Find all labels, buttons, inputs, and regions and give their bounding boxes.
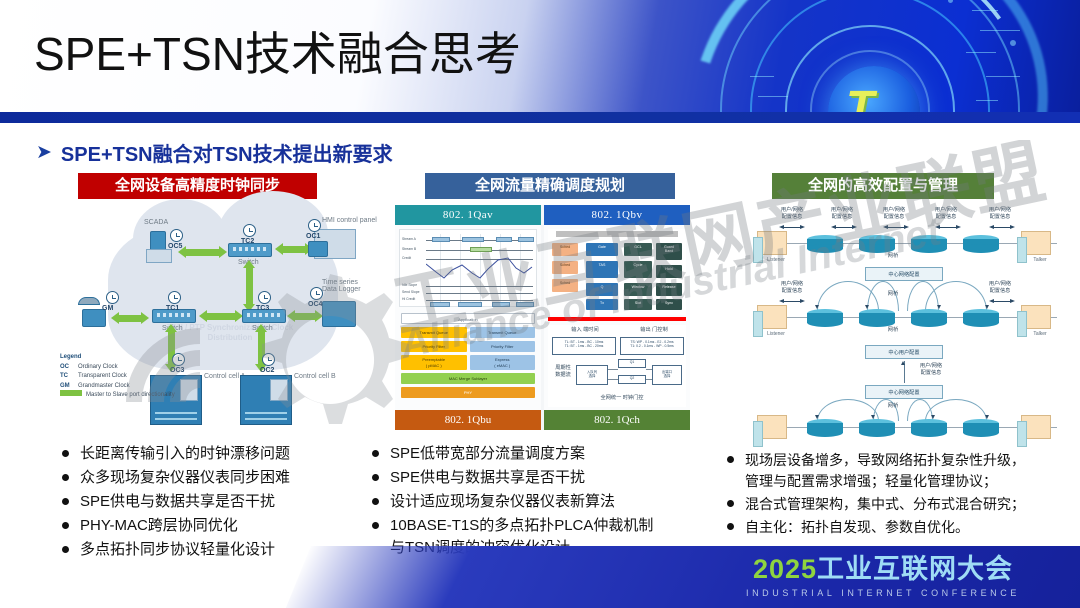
header-tech-graphic: T	[680, 0, 1080, 112]
bridge-node	[911, 419, 947, 436]
flow-block: Preemptable( pMAC )	[401, 355, 467, 370]
bullet-dot-icon	[372, 474, 379, 481]
node-clock-label: TC2	[241, 238, 254, 245]
bullet-dot-icon	[372, 450, 379, 457]
arch-block: Gate	[586, 243, 618, 256]
clock-icon	[308, 219, 321, 232]
sync-arrow	[206, 313, 236, 320]
list-item: SPE供电与数据共享是否干扰	[372, 467, 717, 489]
bullet-dot-icon	[372, 522, 379, 529]
device-hmi-terminal	[308, 241, 328, 257]
endpoint-label: Talker	[1017, 331, 1063, 338]
link-caption: 用户/网络 配置信息	[877, 207, 911, 221]
conference-logo: 2025工业互联网大会 INDUSTRIAL INTERNET CONFEREN…	[746, 556, 1020, 598]
list-item: 自主化：拓扑自发现、参数自优化。	[727, 517, 1077, 538]
clock-icon	[106, 291, 119, 304]
bullet-dot-icon	[62, 474, 69, 481]
link-arrow	[935, 225, 961, 230]
legend-item: TC Transparent Clock	[60, 372, 175, 382]
legend-arrow-icon	[60, 390, 82, 396]
waveform-svg	[426, 256, 534, 282]
node-clock-label: OC1	[306, 233, 320, 240]
list-item: SPE供电与数据共享是否干扰	[62, 491, 382, 513]
bullet-list: 长距离传输引入的时钟漂移问题 众多现场复杂仪器仪表同步困难 SPE供电与数据共享…	[62, 443, 382, 561]
credit-waveform	[426, 256, 534, 282]
bullet-list: 现场层设备增多，导致网络拓扑复杂性升级， 管理与配置需求增强；轻量化管理协议； …	[727, 450, 1077, 538]
link-caption: 用户/网络 配置信息	[983, 207, 1017, 221]
node-clock-label: TC1	[166, 305, 179, 312]
clock-icon	[258, 291, 271, 304]
flow-block: PHY	[401, 387, 535, 398]
node-label: SCADA	[144, 219, 168, 226]
legend-text: Grandmaster Clock	[78, 382, 130, 392]
standard-footer-qch: 802. 1Qch	[544, 410, 690, 430]
legend-item: Master to Slave port directionality	[60, 391, 175, 401]
link-arrow	[779, 225, 805, 230]
list-item: 现场层设备增多，导致网络拓扑复杂性升级， 管理与配置需求增强；轻量化管理协议；	[727, 450, 1077, 492]
legend-text: Master to Slave port directionality	[86, 391, 175, 401]
ingress-select-box: 入队列 选择	[576, 365, 608, 385]
slide-root: T SPE+TSN技术融合思考 ➤ SPE+TSN融合对TSN技术提出新要求 全…	[0, 0, 1080, 608]
flow-block: Express( eMAC )	[470, 355, 536, 370]
logo-title-cn: 工业互联网大会	[817, 554, 1013, 584]
slide-header: T SPE+TSN技术融合思考	[0, 0, 1080, 112]
legend-title: Legend	[60, 353, 81, 363]
flow-block: MAC Merge Sublayer	[401, 373, 535, 384]
endpoint-talker	[1021, 231, 1051, 255]
egress-select-box: 出端口 选择	[652, 365, 682, 385]
list-item: SPE低带宽部分流量调度方案	[372, 443, 717, 465]
arch-block: GCL	[624, 243, 652, 256]
page-title: SPE+TSN技术融合思考	[34, 18, 521, 84]
central-user-config-box: 中心用户配置	[865, 345, 943, 359]
bullet-text: 自主化：拓扑自发现、参数自优化。	[745, 517, 969, 538]
sync-arrow	[282, 246, 306, 253]
schedule-caption: 周期性 数据流	[550, 365, 576, 379]
arch-block: Cycle	[624, 261, 652, 278]
bullet-text: SPE低带宽部分流量调度方案	[390, 443, 585, 465]
clock-icon	[168, 291, 181, 304]
endpoint-label: Listener	[753, 257, 799, 264]
bridge-node	[911, 309, 947, 326]
sync-arrow	[185, 249, 220, 256]
node-clock-label: OC2	[260, 367, 274, 374]
node-label: HMI control panel	[322, 217, 377, 224]
schedule-params-egress: TS: WP - 0.1ms - EJ - 0.2ms T1: 0.2 - 0.…	[620, 337, 684, 355]
banner-config-mgmt: 全网的高效配置与管理	[772, 173, 994, 199]
link-arrow	[883, 225, 909, 230]
bullet-text: SPE供电与数据共享是否干扰	[390, 467, 585, 489]
param-line: T1: 0.2 - 0.1ms - WP - 0.5ms	[621, 344, 683, 348]
bullet-text: 设计适应现场复杂仪器仪表新算法	[390, 491, 615, 513]
diagram-clock-sync-topology: TSN / PTP Synchronization Clock Distribu…	[60, 205, 385, 430]
bridge-node	[807, 235, 843, 252]
bullet-dot-icon	[62, 498, 69, 505]
cabinet-a-panel	[180, 379, 198, 401]
bridge-node	[963, 235, 999, 252]
endpoint-talker	[1021, 415, 1051, 439]
flow-block: Transmit Queue	[401, 327, 467, 338]
link-arrow	[779, 299, 805, 304]
flow-block: Transmit Queue	[470, 327, 536, 338]
bullet-dot-icon	[727, 500, 734, 507]
bullet-text: PHY-MAC跨层协同优化	[80, 515, 238, 537]
bullet-text: 现场层设备增多，导致网络拓扑复杂性升级， 管理与配置需求增强；轻量化管理协议；	[745, 450, 1025, 492]
bullet-text: 众多现场复杂仪器仪表同步困难	[80, 467, 290, 489]
bridge-node	[859, 309, 895, 326]
device-data-logger	[322, 301, 356, 327]
arch-block: GuardBand	[656, 243, 682, 260]
list-item: PHY-MAC跨层协同优化	[62, 515, 382, 537]
endpoint-label: Listener	[753, 331, 799, 338]
banner-traffic-schedule: 全网流量精确调度规划	[425, 173, 675, 199]
logo-year: 2025	[753, 554, 817, 584]
clock-icon	[170, 229, 183, 242]
legend-title-row: Legend	[60, 353, 175, 363]
cabinet-b-panel	[270, 379, 288, 401]
param-line: T1: BT - 1ms - BC - 20ms	[553, 344, 615, 348]
clock-icon	[243, 224, 256, 237]
standard-header-qbv: 802. 1Qbv	[544, 205, 690, 225]
central-network-config-box: 中心网络配置	[865, 267, 943, 281]
arch-block: Q	[586, 283, 618, 296]
timing-diagram: Stream A Stream B Credit Idle Slope Send…	[399, 229, 537, 307]
bullet-text: 混合式管理架构，集中式、分布式混合研究；	[745, 494, 1025, 515]
link-caption: 用户/网络 配置信息	[929, 207, 963, 221]
schedule-params-ingress: TL: BT - 1ms - BC - 10ms T1: BT - 1ms - …	[552, 337, 616, 355]
list-item: 混合式管理架构，集中式、分布式混合研究；	[727, 494, 1077, 515]
slide-footer: 2025工业互联网大会 INDUSTRIAL INTERNET CONFEREN…	[0, 546, 1080, 608]
sync-arrow	[294, 313, 316, 320]
timeline-highlight	[548, 317, 686, 321]
link-arrow	[989, 225, 1015, 230]
standard-header-qav: 802. 1Qav	[395, 205, 541, 225]
list-item: 长距离传输引入的时钟漂移问题	[62, 443, 382, 465]
architecture-diagram: Sched Sched Sched Gate TAS Q Tx GCL Cycl…	[548, 229, 686, 315]
schedule-caption: 输入 端时间	[554, 327, 616, 334]
diagram-traffic-scheduling: 802. 1Qav Stream A Stream B Credit	[395, 205, 690, 430]
endpoint-talker	[1021, 305, 1051, 329]
standard-footer-qbu: 802. 1Qbu	[395, 410, 541, 430]
chevron-right-icon: ➤	[36, 143, 52, 162]
legend-key: TC	[60, 372, 74, 382]
arch-block: Tx	[586, 299, 618, 310]
link-arrow	[989, 299, 1015, 304]
standard-column-qav: 802. 1Qav Stream A Stream B Credit	[395, 205, 541, 430]
bullet-dot-icon	[727, 523, 734, 530]
endpoint-listener	[757, 231, 787, 255]
config-arrow	[901, 361, 905, 365]
node-clock-label: OC4	[308, 301, 322, 308]
device-scada-screen	[146, 249, 172, 263]
schedule-caption: 输出 门控制	[624, 327, 684, 334]
arch-block: Sched	[552, 261, 578, 274]
flow-block: Application	[401, 313, 535, 324]
device-switch-tc2	[228, 243, 272, 257]
legend-item: OC Ordinary Clock	[60, 363, 175, 373]
node-label: Time series Data Logger	[322, 279, 372, 293]
flow-block-stack: Application Transmit Queue Transmit Queu…	[401, 313, 535, 401]
gate-schedule-diagram: 输入 端时间 TL: BT - 1ms - BC - 10ms T1: BT -…	[548, 325, 686, 407]
bullet-text: 长距离传输引入的时钟漂移问题	[80, 443, 290, 465]
bullet-dot-icon	[62, 450, 69, 457]
bullet-dot-icon	[372, 498, 379, 505]
logo-subtitle-en: INDUSTRIAL INTERNET CONFERENCE	[746, 588, 1020, 598]
endpoint-listener	[757, 415, 787, 439]
arch-block: Sched	[552, 243, 578, 256]
list-item: 众多现场复杂仪器仪表同步困难	[62, 467, 382, 489]
bridge-node	[807, 419, 843, 436]
schedule-caption: 全网统一 时钟门控	[582, 395, 662, 402]
link-caption: 用户/网络 配置信息	[909, 363, 953, 377]
arch-bar	[556, 231, 678, 237]
legend-text: Ordinary Clock	[78, 363, 118, 373]
bridge-node	[963, 419, 999, 436]
sync-arrow	[118, 315, 142, 322]
legend-key: OC	[60, 363, 74, 373]
endpoint-listener	[757, 305, 787, 329]
section-subtitle: SPE+TSN融合对TSN技术提出新要求	[61, 138, 393, 167]
arch-block: Window	[624, 283, 652, 296]
arch-block: Slot	[624, 299, 652, 310]
network-label: 网桥	[873, 291, 913, 298]
network-label: 网桥	[873, 253, 913, 260]
arch-block: Sched	[552, 279, 578, 292]
link-arrow	[831, 225, 857, 230]
bridge-node	[963, 309, 999, 326]
link-caption: 用户/网络 配置信息	[775, 281, 809, 295]
bridge-node	[859, 235, 895, 252]
subtitle-row: ➤ SPE+TSN融合对TSN技术提出新要求	[36, 138, 393, 167]
diagram-config-models: Listener Talker 用户/网络 配置信息 用户/网络 配置信息 用户…	[755, 205, 1065, 430]
bridge-node	[807, 309, 843, 326]
bullet-list-traffic-schedule: SPE低带宽部分流量调度方案 SPE供电与数据共享是否干扰 设计适应现场复杂仪器…	[372, 443, 717, 561]
endpoint-label: Talker	[1017, 257, 1063, 264]
config-link	[925, 281, 987, 311]
node-label: Control cell B	[294, 373, 336, 380]
standard-column-qbv: 802. 1Qbv Sched Sched Sched Gate TAS Q T…	[544, 205, 690, 430]
header-accent-bar	[0, 112, 1080, 123]
link-caption: 用户/网络 配置信息	[775, 207, 809, 221]
arch-block: Hold	[656, 265, 682, 278]
arch-block: Sync	[656, 299, 682, 310]
link-caption: 用户/网络 配置信息	[825, 207, 859, 221]
logo-main-line: 2025工业互联网大会	[746, 556, 1020, 583]
bullet-dot-icon	[62, 522, 69, 529]
node-clock-label: TC3	[256, 305, 269, 312]
network-label: 网桥	[873, 403, 913, 410]
queue-box: Q2	[618, 375, 646, 384]
queue-box: Q1	[618, 359, 646, 368]
device-antenna	[78, 297, 100, 305]
network-label: 网桥	[873, 327, 913, 334]
flow-block: Priority Filter	[470, 341, 536, 352]
header-t-logo: T	[846, 80, 871, 112]
sync-arrow	[246, 267, 253, 305]
arch-block: TAS	[586, 261, 618, 278]
config-link	[817, 399, 879, 421]
central-network-config-box: 中心网络配置	[865, 385, 943, 399]
bullet-list-config-mgmt: 现场层设备增多，导致网络拓扑复杂性升级， 管理与配置需求增强；轻量化管理协议； …	[727, 450, 1077, 540]
clock-icon	[262, 353, 275, 366]
diagram-legend: Legend OC Ordinary Clock TC Transparent …	[60, 353, 175, 401]
bullet-dot-icon	[727, 456, 734, 463]
link-caption: 用户/网络 配置信息	[983, 281, 1017, 295]
bullet-text: SPE供电与数据共享是否干扰	[80, 491, 275, 513]
list-item: 设计适应现场复杂仪器仪表新算法	[372, 491, 717, 513]
arch-block: Release	[656, 283, 682, 296]
bullet-list: SPE低带宽部分流量调度方案 SPE供电与数据共享是否干扰 设计适应现场复杂仪器…	[372, 443, 717, 559]
legend-text: Transparent Clock	[78, 372, 127, 382]
bridge-node	[911, 235, 947, 252]
flow-block: Priority Filter	[401, 341, 467, 352]
bridge-node	[859, 419, 895, 436]
node-clock-label: GM	[102, 305, 113, 312]
